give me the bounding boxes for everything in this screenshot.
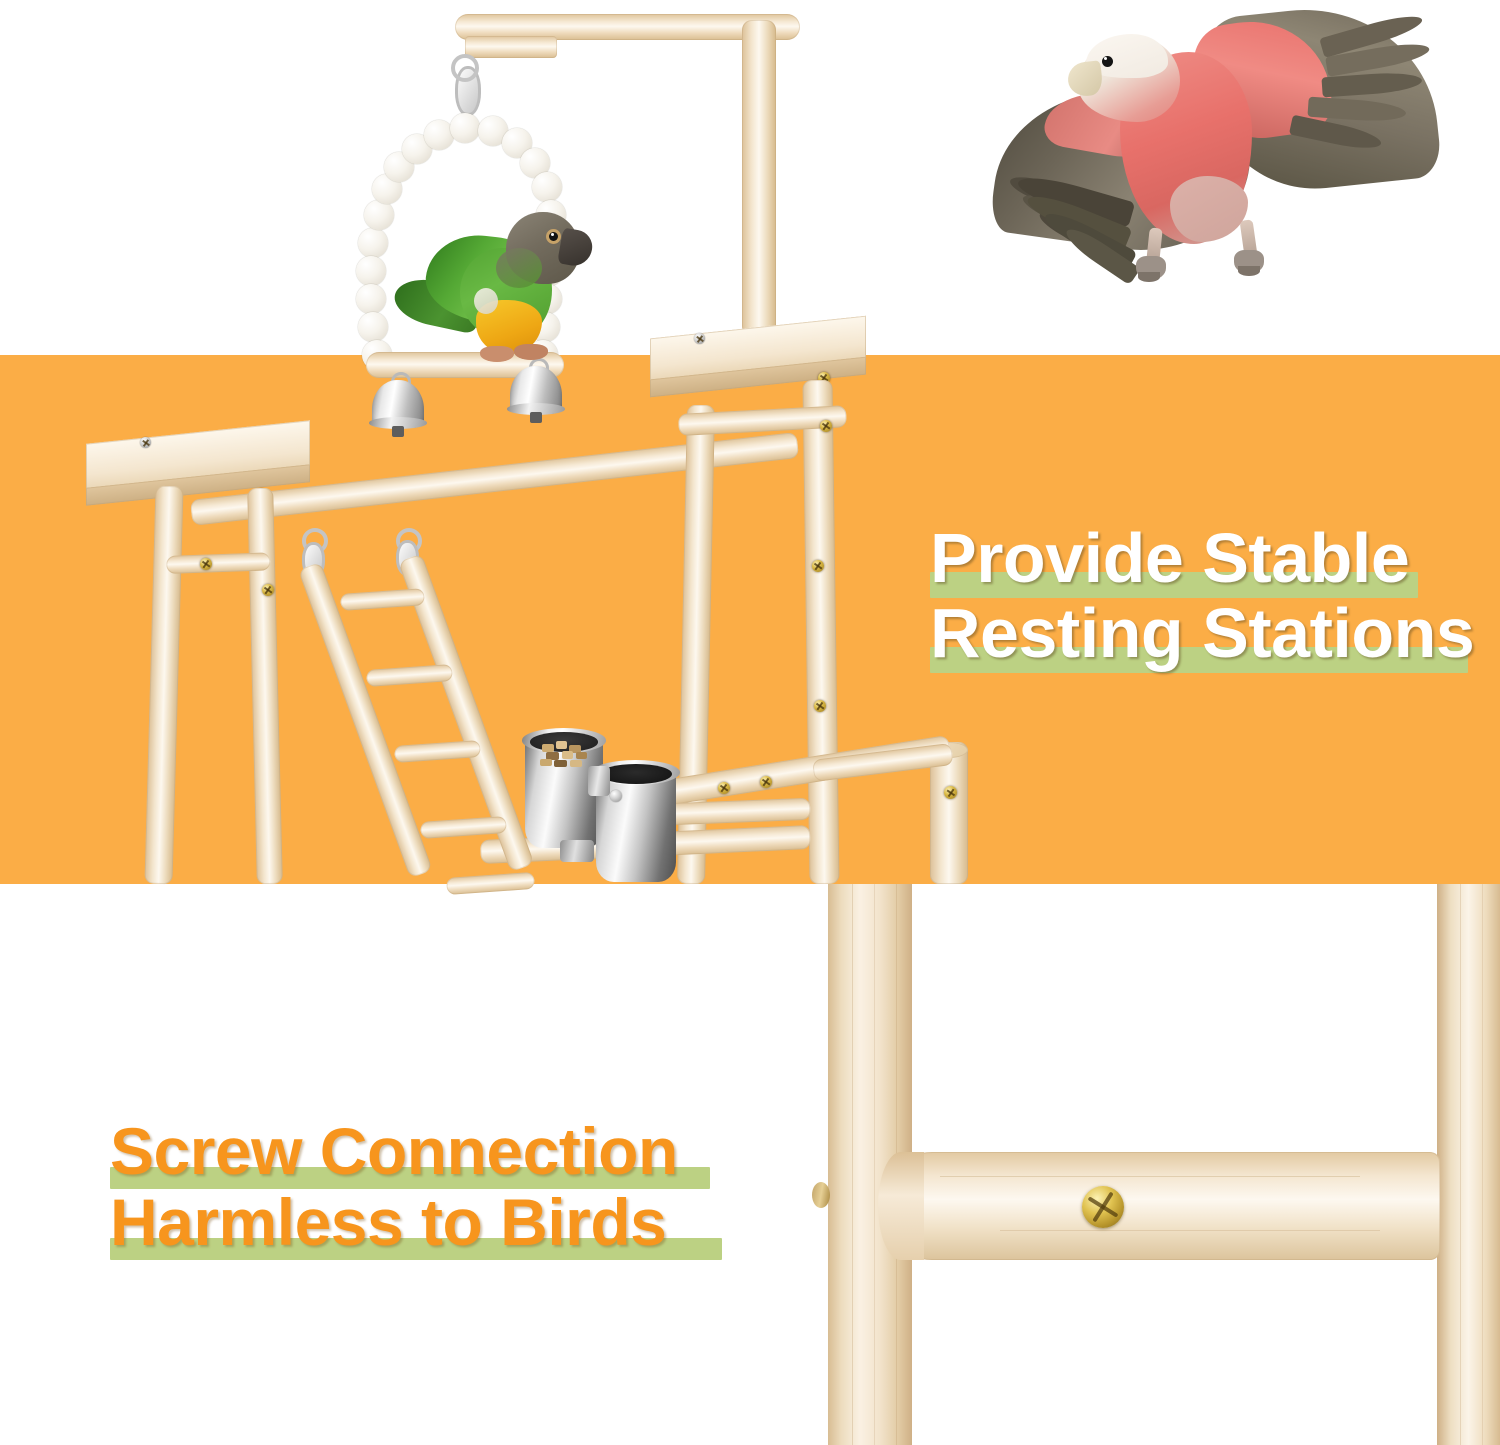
post-right-outer-screw: [944, 786, 957, 799]
ladder-rung: [394, 740, 481, 763]
swing-bead: [450, 113, 480, 143]
leg-left-crossbar: [166, 552, 271, 574]
closeup-post-right: [1437, 884, 1500, 1445]
swing-hook-ring: [451, 54, 479, 82]
swing-bead: [358, 312, 388, 342]
headline-line: Screw Connection: [110, 1119, 678, 1184]
closeup-dowel-perch: [878, 1152, 1440, 1260]
headline-line: Harmless to Birds: [110, 1190, 678, 1255]
ladder-rung: [366, 664, 453, 687]
headline-line-text: Screw Connection: [110, 1119, 678, 1184]
top-vertical-post: [742, 20, 776, 336]
senegal-parrot-photo: [402, 196, 582, 368]
closeup-screw-nub-left: [812, 1182, 830, 1208]
right-diagonal-perch-screw-1: [718, 782, 730, 794]
headline-line: Resting Stations: [930, 599, 1474, 668]
galah-vent: [1170, 176, 1248, 242]
parrot-left-foot: [480, 346, 514, 362]
galah-eye-highlight: [1104, 57, 1107, 60]
parrot-eye-highlight: [551, 233, 554, 236]
seed-pellet: [576, 752, 587, 759]
seed-pellet: [554, 760, 567, 767]
closeup-post-left-grain-2: [874, 884, 875, 1445]
seed-pellet: [562, 751, 573, 759]
headline-line: Provide Stable: [930, 524, 1474, 593]
platform-left-screw-1: [140, 437, 151, 448]
cup-bracket-upper: [588, 766, 610, 796]
cup-bracket-lower: [560, 840, 594, 862]
cup-interior: [600, 764, 672, 784]
hanging-wood-ladder: [288, 528, 558, 884]
parrot-nape: [496, 248, 542, 288]
swing-bell-left: [372, 372, 424, 438]
cup-bracket-bolt: [610, 790, 622, 802]
top-support-arm-block: [465, 36, 557, 58]
parrot-chest-mark: [474, 288, 498, 314]
bell-clapper: [530, 412, 542, 423]
leg-left-screw-low: [262, 584, 274, 596]
bell-clapper: [392, 426, 404, 437]
product-feature-graphic: Provide Stable Resting Stations Screw Co…: [0, 0, 1500, 1445]
ladder-rung: [340, 588, 425, 611]
swing-bead: [356, 256, 386, 286]
headline-resting-stations: Provide Stable Resting Stations: [930, 524, 1474, 667]
closeup-post-right-grain-1: [1460, 884, 1461, 1445]
closeup-dowel-endcap: [878, 1152, 924, 1260]
seed-pellet: [540, 759, 552, 766]
closeup-dowel-grain-2: [1000, 1230, 1380, 1231]
right-diagonal-perch-screw-2: [760, 776, 772, 788]
swing-bead: [356, 284, 386, 314]
headline-line-text: Harmless to Birds: [110, 1190, 666, 1255]
leg-center-screw-mid: [812, 560, 824, 572]
headline-line-text: Resting Stations: [930, 599, 1474, 668]
seed-pellet: [542, 744, 554, 752]
closeup-dowel-grain-1: [940, 1176, 1360, 1177]
leg-center-screw-low: [814, 700, 826, 712]
ladder-rung: [420, 816, 507, 839]
center-upper-crossbar-screw: [820, 420, 832, 432]
closeup-post-left-grain-1: [852, 884, 853, 1445]
headline-screw-connection: Screw Connection Harmless to Birds: [110, 1119, 678, 1254]
leg-left-crossbar-screw: [200, 558, 212, 570]
seed-pellet: [570, 760, 582, 767]
galah-cockatoo-photo: [990, 0, 1420, 300]
galah-right-claw: [1238, 266, 1260, 276]
platform-right-screw-1: [694, 333, 705, 344]
parrot-right-foot: [514, 344, 548, 360]
closeup-post-right-grain-2: [1482, 884, 1483, 1445]
galah-left-claw: [1138, 272, 1160, 282]
seed-pellet: [556, 741, 567, 749]
swing-bead: [364, 200, 394, 230]
headline-line-text: Provide Stable: [930, 524, 1409, 593]
swing-bead: [358, 228, 388, 258]
